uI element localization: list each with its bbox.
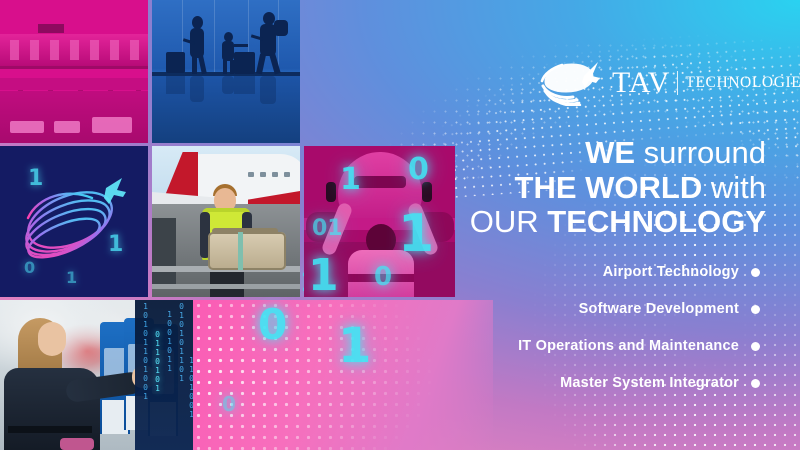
bullet-dot-icon bbox=[751, 379, 760, 388]
service-label: IT Operations and Maintenance bbox=[518, 338, 739, 354]
service-item-airport-technology[interactable]: Airport Technology bbox=[280, 258, 760, 286]
jetbridge bbox=[0, 34, 148, 66]
service-item-it-operations-and-maintenance[interactable]: IT Operations and Maintenance bbox=[280, 332, 760, 360]
binary-digit-0-b: 1 bbox=[66, 268, 77, 287]
tav-globe-airplane-icon bbox=[540, 60, 602, 106]
brand-logo-lockup[interactable]: TAV TECHNOLOGIES bbox=[540, 60, 800, 106]
headline: WE surround THE WORLD with OUR TECHNOLOG… bbox=[246, 136, 766, 240]
service-label: Airport Technology bbox=[603, 264, 739, 280]
headline-line3-light: OUR bbox=[470, 204, 539, 239]
headline-line3-bold: TECHNOLOGY bbox=[547, 204, 766, 239]
brand-name: TAV bbox=[612, 68, 670, 98]
neon-globe-logo-graphic: 1 1 0 1 bbox=[0, 146, 148, 297]
binary-digit-0: 1 bbox=[28, 166, 43, 191]
service-label: Master System Integrator bbox=[560, 375, 739, 391]
headline-line1-bold: WE bbox=[585, 135, 635, 170]
bullet-dot-icon bbox=[751, 268, 760, 277]
woman-at-self-service-kiosk-photo: 10101101001 0110101 1001011 010101101 11… bbox=[0, 300, 193, 450]
promotional-banner: 0 1 1 0 bbox=[0, 0, 800, 450]
headline-line1-light: surround bbox=[644, 135, 766, 170]
brand-suffix: TECHNOLOGIES bbox=[685, 75, 800, 91]
binary-code-overlay: 10101101001 0110101 1001011 010101101 11… bbox=[135, 300, 193, 450]
headline-line2-bold: THE WORLD bbox=[515, 170, 703, 205]
service-item-master-system-integrator[interactable]: Master System Integrator bbox=[280, 369, 760, 397]
services-list: Airport Technology Software Development … bbox=[280, 258, 760, 406]
terminal-canopy bbox=[0, 78, 148, 90]
bullet-dot-icon bbox=[751, 305, 760, 314]
headline-line2-light: with bbox=[711, 170, 766, 205]
terminal-roof-unit bbox=[38, 24, 64, 33]
service-item-software-development[interactable]: Software Development bbox=[280, 295, 760, 323]
service-label: Software Development bbox=[579, 301, 739, 317]
travellers-with-luggage-silhouette-photo bbox=[152, 0, 300, 143]
binary-digit-1-b: 0 bbox=[24, 258, 35, 277]
bullet-dot-icon bbox=[751, 342, 760, 351]
binary-digit-1: 1 bbox=[108, 232, 123, 257]
brand-divider bbox=[677, 71, 678, 95]
airport-terminal-jetbridge-photo bbox=[0, 0, 148, 143]
